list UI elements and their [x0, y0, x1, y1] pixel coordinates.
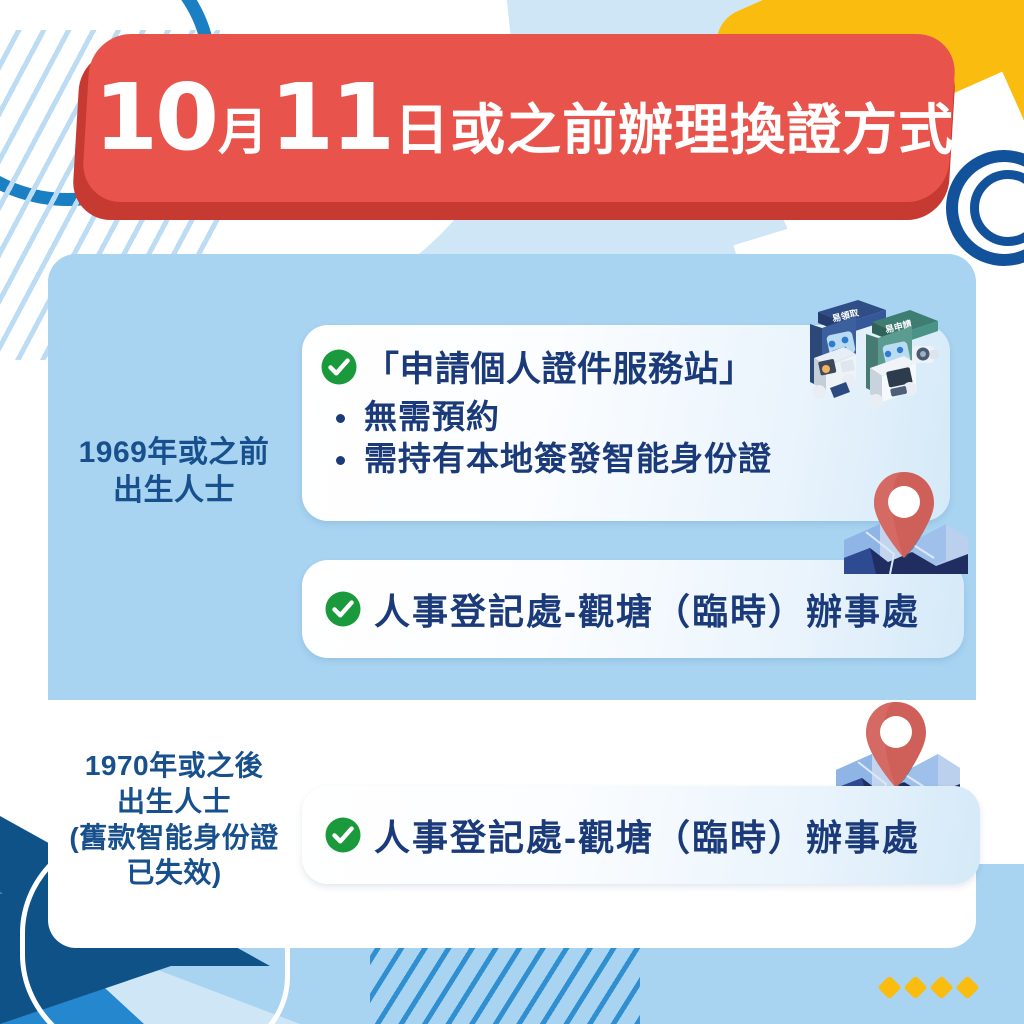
yellow-diamond-group: [881, 979, 976, 996]
row-1-label-line-2: 出生人士: [40, 472, 308, 510]
row-1-label-line-1: 1969年或之前: [40, 434, 308, 472]
banner-title-tail: 日或之前辦理換證方式: [392, 103, 954, 158]
diamond-icon: [903, 975, 927, 999]
office-name-row2: 人事登記處-觀塘（臨時）辦事處: [374, 809, 920, 861]
row-1-label: 1969年或之前 出生人士: [40, 434, 308, 511]
green-check-icon: [324, 590, 362, 628]
banner-text-group: 10 月 11 日或之前辦理換證方式: [84, 72, 954, 164]
banner-day-number: 11: [270, 72, 392, 164]
row-2-label-line-3: (舊款智能身份證: [34, 820, 314, 856]
office-card-row2[interactable]: 人事登記處-觀塘（臨時）辦事處: [302, 786, 980, 884]
row-2-label: 1970年或之後 出生人士 (舊款智能身份證 已失效): [34, 748, 314, 891]
row-2-label-line-4: 已失效): [34, 855, 314, 891]
service-station-title: 「申請個人證件服務站」: [364, 341, 755, 392]
office-name-row1: 人事登記處-觀塘（臨時）辦事處: [374, 583, 920, 635]
row-2-label-line-1: 1970年或之後: [34, 748, 314, 784]
row-2-label-line-2: 出生人士: [34, 784, 314, 820]
office-card-row2-content: 人事登記處-觀塘（臨時）辦事處: [302, 786, 980, 884]
diamond-icon: [929, 975, 953, 999]
banner-body: 10 月 11 日或之前辦理換證方式: [81, 34, 957, 202]
self-service-kiosk-illustration: 易領取 易申請: [800, 288, 960, 418]
map-pin-illustration: [836, 462, 976, 587]
green-check-icon: [324, 816, 362, 854]
infographic-canvas: 10 月 11 日或之前辦理換證方式 1969年或之前 出生人士 「申請個人證件…: [0, 0, 1024, 1024]
banner-month-number: 10: [94, 72, 216, 164]
green-check-icon: [320, 348, 358, 386]
header-banner: 10 月 11 日或之前辦理換證方式: [72, 34, 952, 219]
diamond-icon: [877, 975, 901, 999]
banner-month-char: 月: [216, 107, 270, 157]
diamond-icon: [955, 975, 979, 999]
